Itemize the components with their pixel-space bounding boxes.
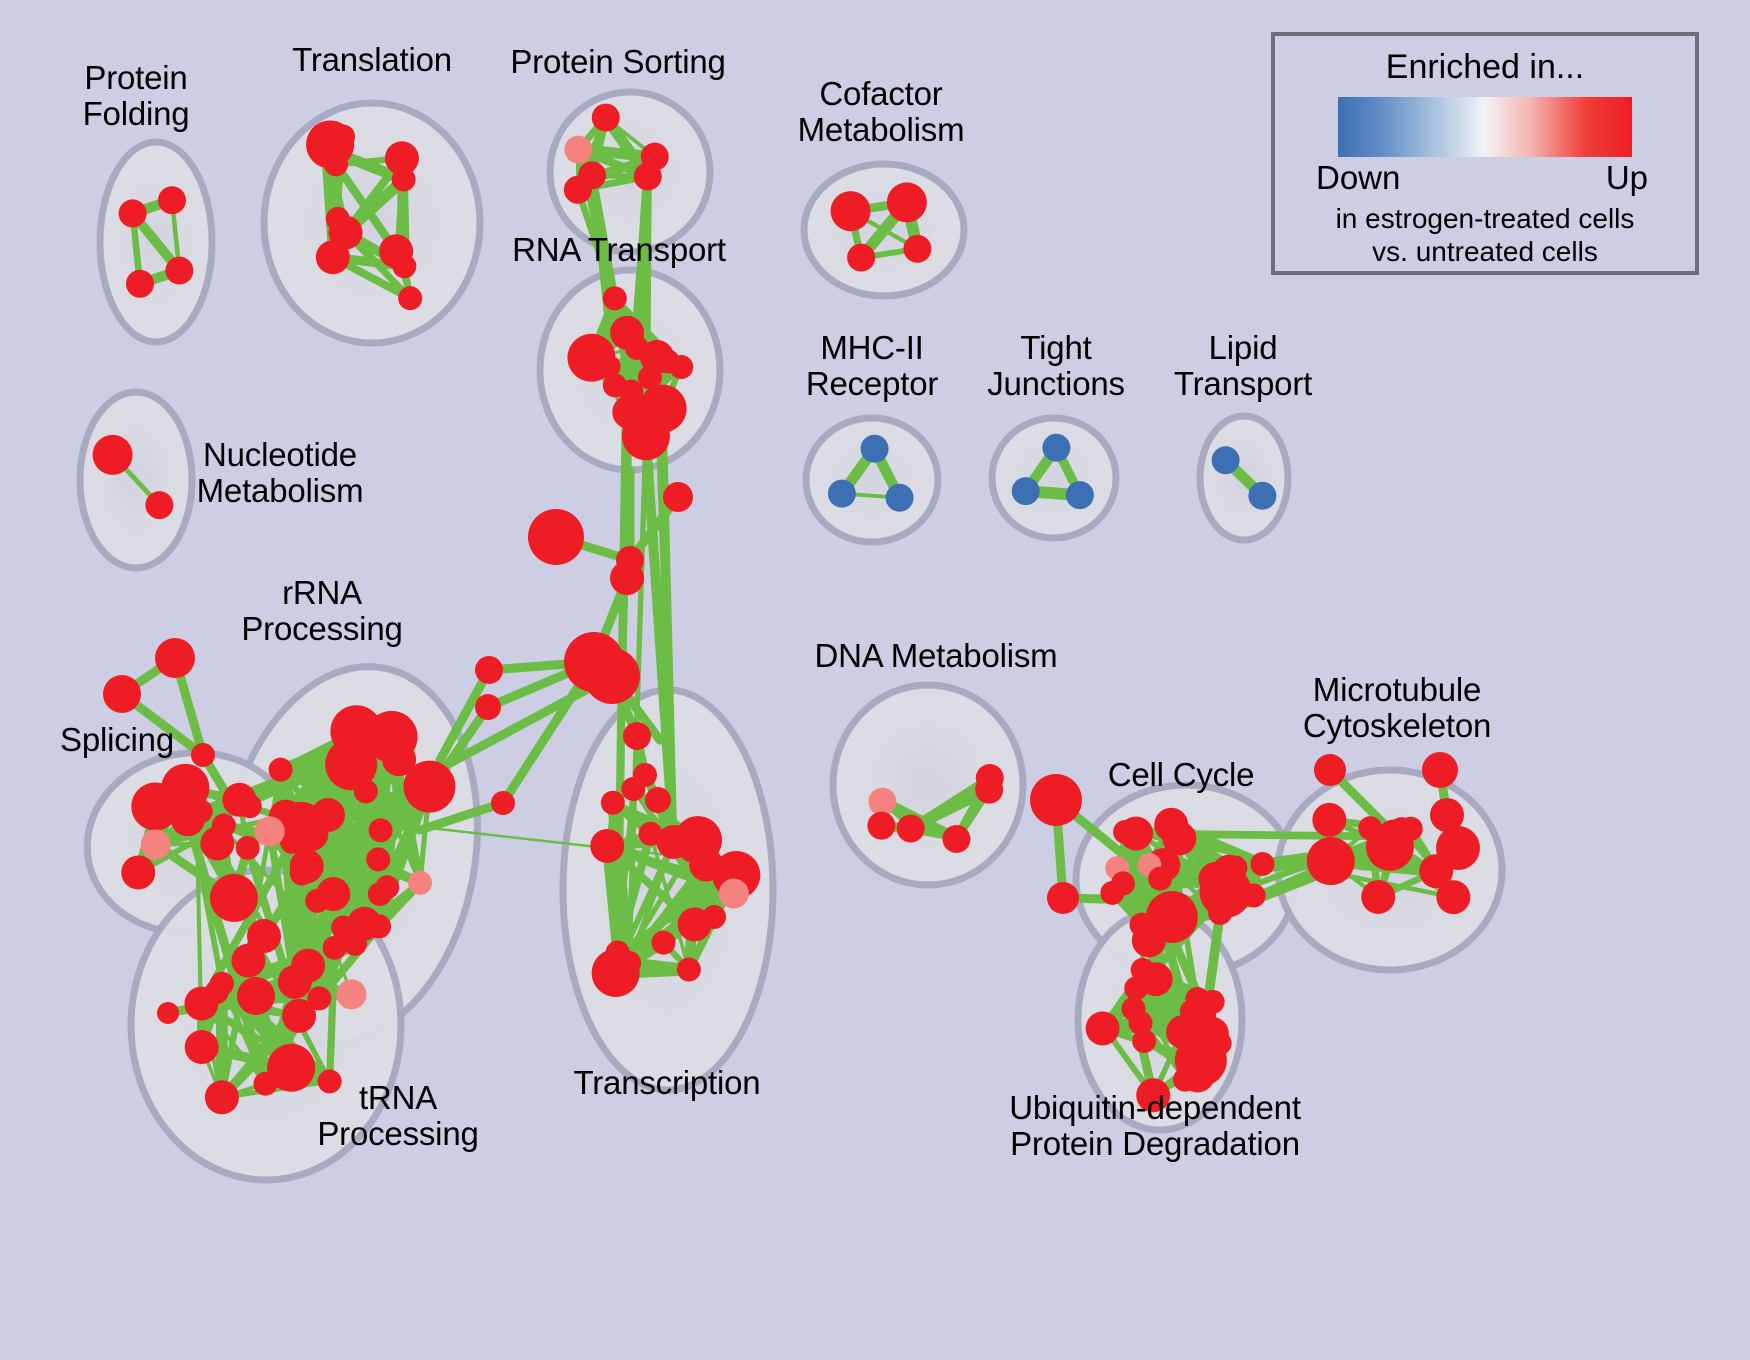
graph-node (269, 758, 293, 782)
graph-node (663, 482, 693, 512)
graph-node (330, 705, 382, 757)
graph-node (942, 825, 970, 853)
graph-node (1361, 880, 1395, 914)
legend-high-label: Up (1606, 159, 1648, 197)
graph-node (379, 234, 413, 268)
graph-node (651, 931, 675, 955)
graph-node (1129, 913, 1153, 937)
graph-node (1132, 1029, 1156, 1053)
cluster-label-translation: Translation (292, 42, 452, 78)
graph-node (165, 257, 193, 285)
graph-node (290, 849, 324, 883)
graph-node (610, 561, 644, 595)
graph-node (1148, 867, 1172, 891)
graph-node (847, 244, 875, 272)
graph-node (622, 412, 670, 460)
graph-node (369, 818, 393, 842)
cluster-label-protein-folding: Protein Folding (83, 60, 190, 131)
graph-node (867, 812, 895, 840)
graph-node (375, 713, 409, 747)
legend-endpoints: Down Up (1320, 159, 1650, 201)
cluster-label-ubiquitin-protein-degradation: Ubiquitin-dependent Protein Degradation (1009, 1090, 1301, 1161)
cluster-label-nucleotide-metabolism: Nucleotide Metabolism (197, 437, 364, 508)
cluster-label-lipid-transport: Lipid Transport (1174, 330, 1312, 401)
graph-node (831, 191, 871, 231)
graph-node (702, 905, 726, 929)
graph-node (157, 1002, 179, 1024)
graph-node (145, 491, 173, 519)
graph-node (212, 813, 236, 837)
cluster-label-dna-metabolism: DNA Metabolism (815, 638, 1058, 674)
graph-node (656, 825, 690, 859)
legend-caption-line2: vs. untreated cells (1275, 236, 1695, 267)
graph-node (1012, 477, 1040, 505)
graph-node (158, 186, 186, 214)
legend-panel: Enriched in... Down Up in estrogen-treat… (1271, 32, 1699, 275)
graph-node (141, 830, 171, 860)
graph-node (247, 919, 281, 953)
graph-node (634, 162, 662, 190)
graph-node (1181, 1058, 1215, 1092)
cluster-label-cofactor-metabolism: Cofactor Metabolism (798, 76, 965, 147)
graph-node (316, 877, 350, 911)
graph-node (603, 286, 627, 310)
cluster-label-trna-processing: tRNA Processing (317, 1080, 478, 1151)
graph-node (903, 235, 931, 263)
graph-node (828, 480, 856, 508)
graph-node (1042, 434, 1070, 462)
graph-node (126, 270, 154, 298)
graph-node (475, 694, 501, 720)
graph-node (255, 816, 285, 846)
graph-node (103, 675, 141, 713)
graph-node (601, 791, 625, 815)
graph-node (367, 914, 391, 938)
graph-node (976, 764, 1004, 792)
graph-node (210, 874, 258, 922)
graph-node (236, 836, 260, 860)
graph-node (1422, 752, 1458, 788)
graph-node (861, 435, 889, 463)
graph-node (1314, 754, 1346, 786)
graph-node (161, 764, 209, 812)
graph-node (1086, 1011, 1120, 1045)
graph-node (610, 316, 644, 350)
graph-node (392, 168, 416, 192)
cluster-label-rrna-processing: rRNA Processing (241, 575, 402, 646)
graph-node (191, 743, 215, 767)
graph-node (645, 787, 671, 813)
graph-node (119, 199, 147, 227)
cluster-label-cell-cycle: Cell Cycle (1108, 757, 1255, 793)
graph-node (1307, 837, 1355, 885)
graph-node (408, 871, 432, 895)
graph-node (93, 435, 133, 475)
graph-node (564, 176, 592, 204)
graph-node (1377, 820, 1411, 854)
graph-node (222, 783, 256, 817)
graph-node (121, 855, 155, 889)
graph-node (623, 722, 651, 750)
legend-caption-line1: in estrogen-treated cells (1275, 203, 1695, 234)
cluster-label-mhc-ii-receptor: MHC-II Receptor (806, 330, 938, 401)
graph-node (375, 875, 399, 899)
graph-node (528, 509, 584, 565)
graph-node (592, 104, 620, 132)
enrichment-map-figure: Protein FoldingTranslationProtein Sortin… (0, 0, 1750, 1360)
graph-node (1111, 871, 1135, 895)
graph-node (267, 1044, 315, 1092)
graph-node (1047, 882, 1079, 914)
graph-node (205, 1080, 239, 1114)
graph-node (337, 979, 367, 1009)
graph-node (719, 879, 749, 909)
graph-node (366, 847, 390, 871)
graph-node (887, 182, 927, 222)
graph-node (669, 355, 693, 379)
graph-node (1248, 482, 1276, 510)
graph-node (564, 136, 592, 164)
graph-node (491, 791, 515, 815)
graph-node (237, 977, 275, 1015)
graph-node (689, 847, 723, 881)
graph-node (886, 484, 914, 512)
graph-node (1119, 817, 1153, 851)
graph-node (475, 656, 503, 684)
graph-node (326, 207, 350, 231)
graph-node (1436, 826, 1480, 870)
legend-color-gradient (1338, 97, 1632, 157)
graph-node (1030, 774, 1082, 826)
cluster-label-protein-sorting: Protein Sorting (510, 44, 725, 80)
graph-node (306, 120, 354, 168)
graph-node (1312, 803, 1346, 837)
graph-node (282, 999, 316, 1033)
graph-node (1224, 856, 1248, 880)
graph-node (677, 958, 701, 982)
legend-low-label: Down (1316, 159, 1400, 197)
graph-node (155, 638, 195, 678)
graph-node (354, 779, 378, 803)
graph-node (590, 829, 624, 863)
graph-node (1250, 852, 1274, 876)
graph-node (633, 763, 657, 787)
graph-node (1162, 821, 1196, 855)
graph-node (185, 1030, 219, 1064)
graph-node (1171, 904, 1195, 928)
graph-node (382, 742, 416, 776)
graph-node (868, 788, 896, 816)
cluster-label-splicing: Splicing (60, 722, 174, 758)
cluster-label-transcription: Transcription (574, 1065, 761, 1101)
graph-node (584, 648, 640, 704)
graph-node (1231, 882, 1255, 906)
graph-node (897, 815, 925, 843)
graph-node (1139, 962, 1173, 996)
graph-node (184, 987, 218, 1021)
graph-node (323, 936, 347, 960)
cluster-label-rna-transport: RNA Transport (512, 232, 726, 268)
graph-node (568, 334, 616, 382)
legend-title: Enriched in... (1275, 48, 1695, 87)
graph-node (604, 956, 628, 980)
graph-node (311, 798, 345, 832)
graph-node (282, 966, 306, 990)
graph-node (1212, 446, 1240, 474)
cluster-label-microtubule-cytoskeleton: Microtubule Cytoskeleton (1303, 672, 1491, 743)
graph-node (398, 286, 422, 310)
cluster-label-tight-junctions: Tight Junctions (987, 330, 1125, 401)
graph-node (1208, 1031, 1232, 1055)
graph-node (1066, 481, 1094, 509)
graph-node (1182, 997, 1216, 1031)
